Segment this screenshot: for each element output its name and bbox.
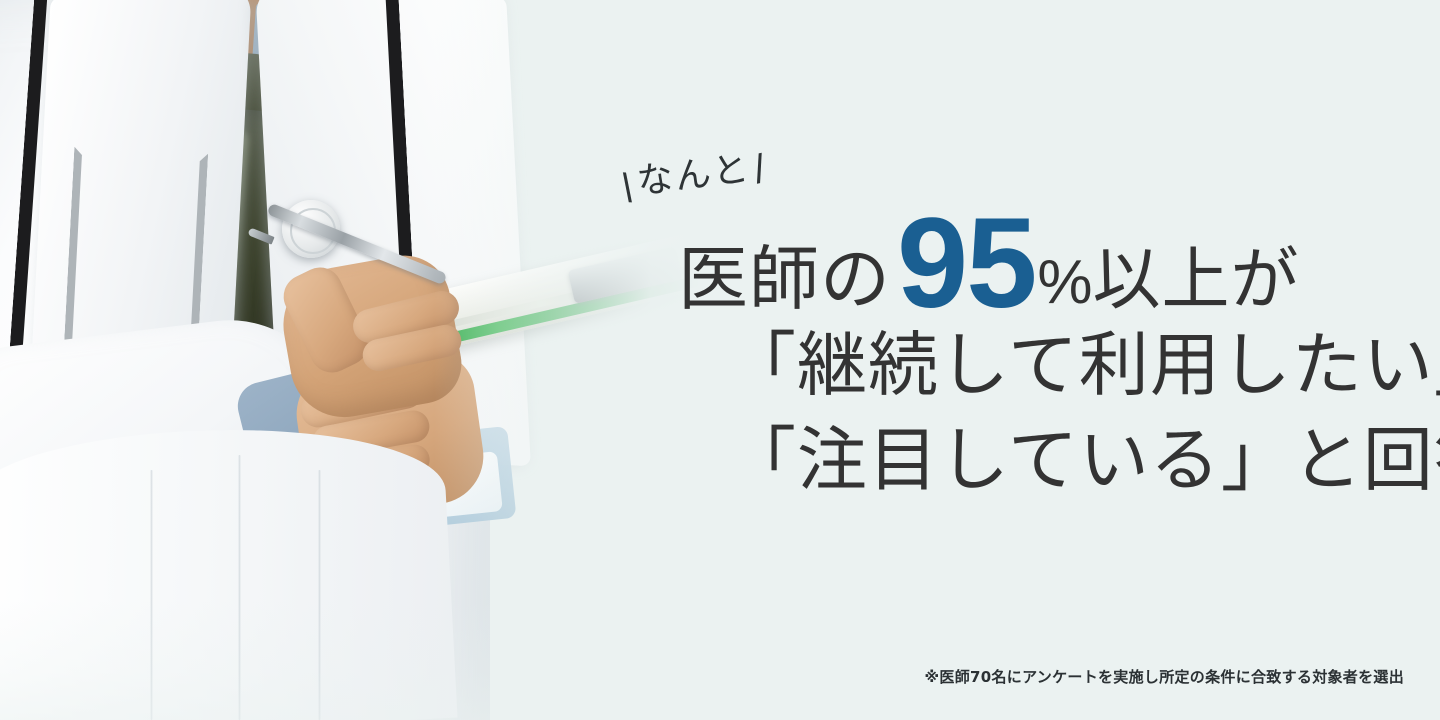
coat-crease <box>150 470 153 720</box>
headline-tail-text: 以上が <box>1093 246 1300 314</box>
headline-line-3: 「注目している」と回答 <box>726 425 1440 495</box>
lab-coat-hem <box>0 418 458 720</box>
coat-crease <box>318 470 321 720</box>
coat-crease <box>238 455 241 720</box>
headline-line-2: 「継続して利用したい」 <box>726 330 1440 400</box>
survey-footnote: ※医師70名にアンケートを実施し所定の条件に合致する対象者を選出 <box>925 666 1404 687</box>
headline-line-1: 医師の 95 % 以上が <box>678 208 1300 314</box>
badge-slash-right-icon: / <box>750 149 769 190</box>
headline-percent-sign: % <box>1037 252 1092 314</box>
nanto-badge: \ なんと / <box>621 153 768 203</box>
headline-lead-text: 医師の <box>678 244 891 314</box>
doctor-photo <box>0 0 700 720</box>
promo-banner: \ なんと / 医師の 95 % 以上が 「継続して利用したい」 「注目している… <box>0 0 1440 720</box>
headline-percentage: 95 <box>897 212 1035 317</box>
photo-scene <box>0 0 700 720</box>
